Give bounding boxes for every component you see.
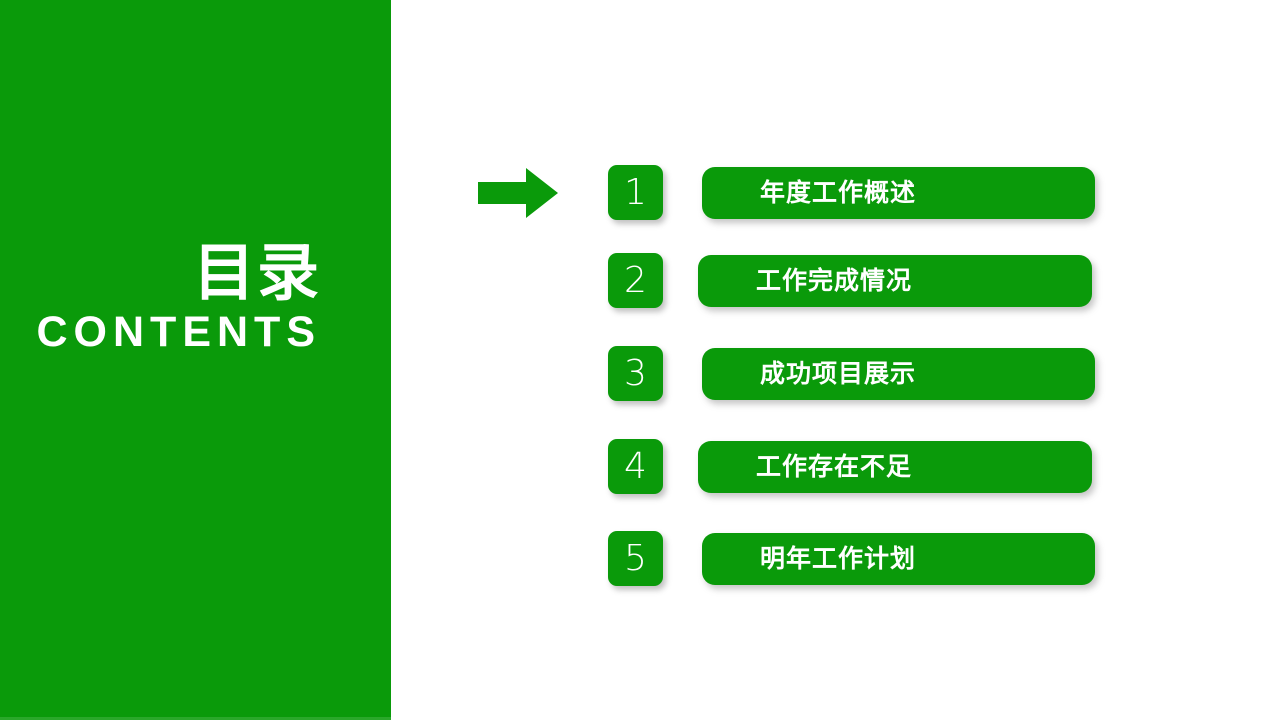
contents-list-area: 1 年度工作概述 2 工作完成情况 3 成功项目展示 4 工作存在不足 [391, 0, 1281, 720]
menu-bar-5[interactable]: 明年工作计划 [702, 533, 1095, 585]
menu-number-5: 5 [608, 531, 663, 586]
menu-label-3: 成功项目展示 [760, 348, 916, 400]
menu-label-1: 年度工作概述 [760, 167, 916, 219]
menu-label-5: 明年工作计划 [760, 533, 916, 585]
sidebar-panel: 目录 CONTENTS [0, 0, 391, 720]
list-item[interactable]: 1 年度工作概述 [391, 165, 1281, 221]
menu-label-4: 工作存在不足 [756, 441, 912, 493]
page-title-en: CONTENTS [0, 306, 321, 356]
page-title-cn: 目录 [0, 240, 321, 306]
menu-bar-3[interactable]: 成功项目展示 [702, 348, 1095, 400]
menu-label-2: 工作完成情况 [756, 255, 912, 307]
menu-number-1: 1 [608, 165, 663, 220]
title-block: 目录 CONTENTS [0, 240, 321, 356]
menu-bar-2[interactable]: 工作完成情况 [698, 255, 1092, 307]
list-item[interactable]: 2 工作完成情况 [391, 253, 1281, 309]
menu-number-4: 4 [608, 439, 663, 494]
menu-bar-4[interactable]: 工作存在不足 [698, 441, 1092, 493]
contents-slide: 目录 CONTENTS 1 年度工作概述 2 工作完成情况 [0, 0, 1281, 720]
menu-number-3: 3 [608, 346, 663, 401]
list-item[interactable]: 4 工作存在不足 [391, 439, 1281, 495]
menu-number-2: 2 [608, 253, 663, 308]
list-item[interactable]: 5 明年工作计划 [391, 531, 1281, 587]
list-item[interactable]: 3 成功项目展示 [391, 346, 1281, 402]
menu-bar-1[interactable]: 年度工作概述 [702, 167, 1095, 219]
